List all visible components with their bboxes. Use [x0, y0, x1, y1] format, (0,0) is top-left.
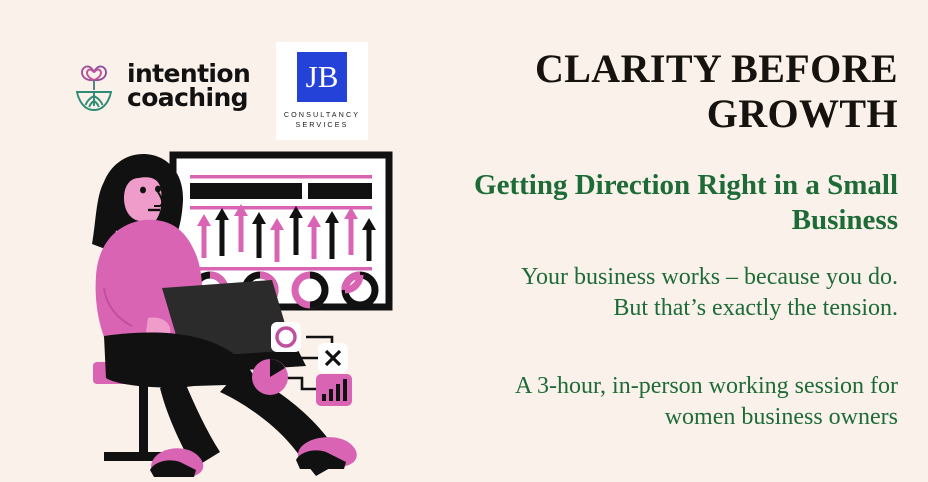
intention-coaching-logo: intention coaching [70, 59, 250, 113]
jb-monogram-text: JB [306, 61, 339, 92]
event-banner: intention coaching JB CONSULTANCY SERVIC… [0, 0, 928, 482]
flower-roots-icon [70, 59, 118, 113]
jb-consultancy-logo: JB CONSULTANCY SERVICES [276, 42, 368, 140]
description-paragraph-2: A 3-hour, in-person working session for … [488, 371, 898, 433]
jb-sub-services: SERVICES [295, 120, 348, 130]
description-paragraph-1: Your business works – because you do. Bu… [488, 262, 898, 324]
dashboard-board [173, 155, 389, 307]
subheadline: Getting Direction Right in a Small Busin… [474, 168, 898, 238]
logo-row: intention coaching JB CONSULTANCY SERVIC… [0, 42, 470, 147]
headline: CLARITY BEFORE GROWTH [478, 46, 898, 136]
x-node-icon [318, 343, 348, 373]
pie-chart-icon [252, 359, 288, 395]
intention-coaching-wordmark: intention coaching [127, 62, 250, 111]
jb-monogram-square: JB [297, 52, 347, 102]
jb-sub-consultancy: CONSULTANCY [284, 110, 360, 120]
text-column: CLARITY BEFORE GROWTH Getting Direction … [470, 0, 910, 482]
bar-chart-icon [316, 374, 352, 406]
illustration-woman-at-laptop [44, 140, 444, 480]
circle-node-icon [271, 322, 301, 352]
